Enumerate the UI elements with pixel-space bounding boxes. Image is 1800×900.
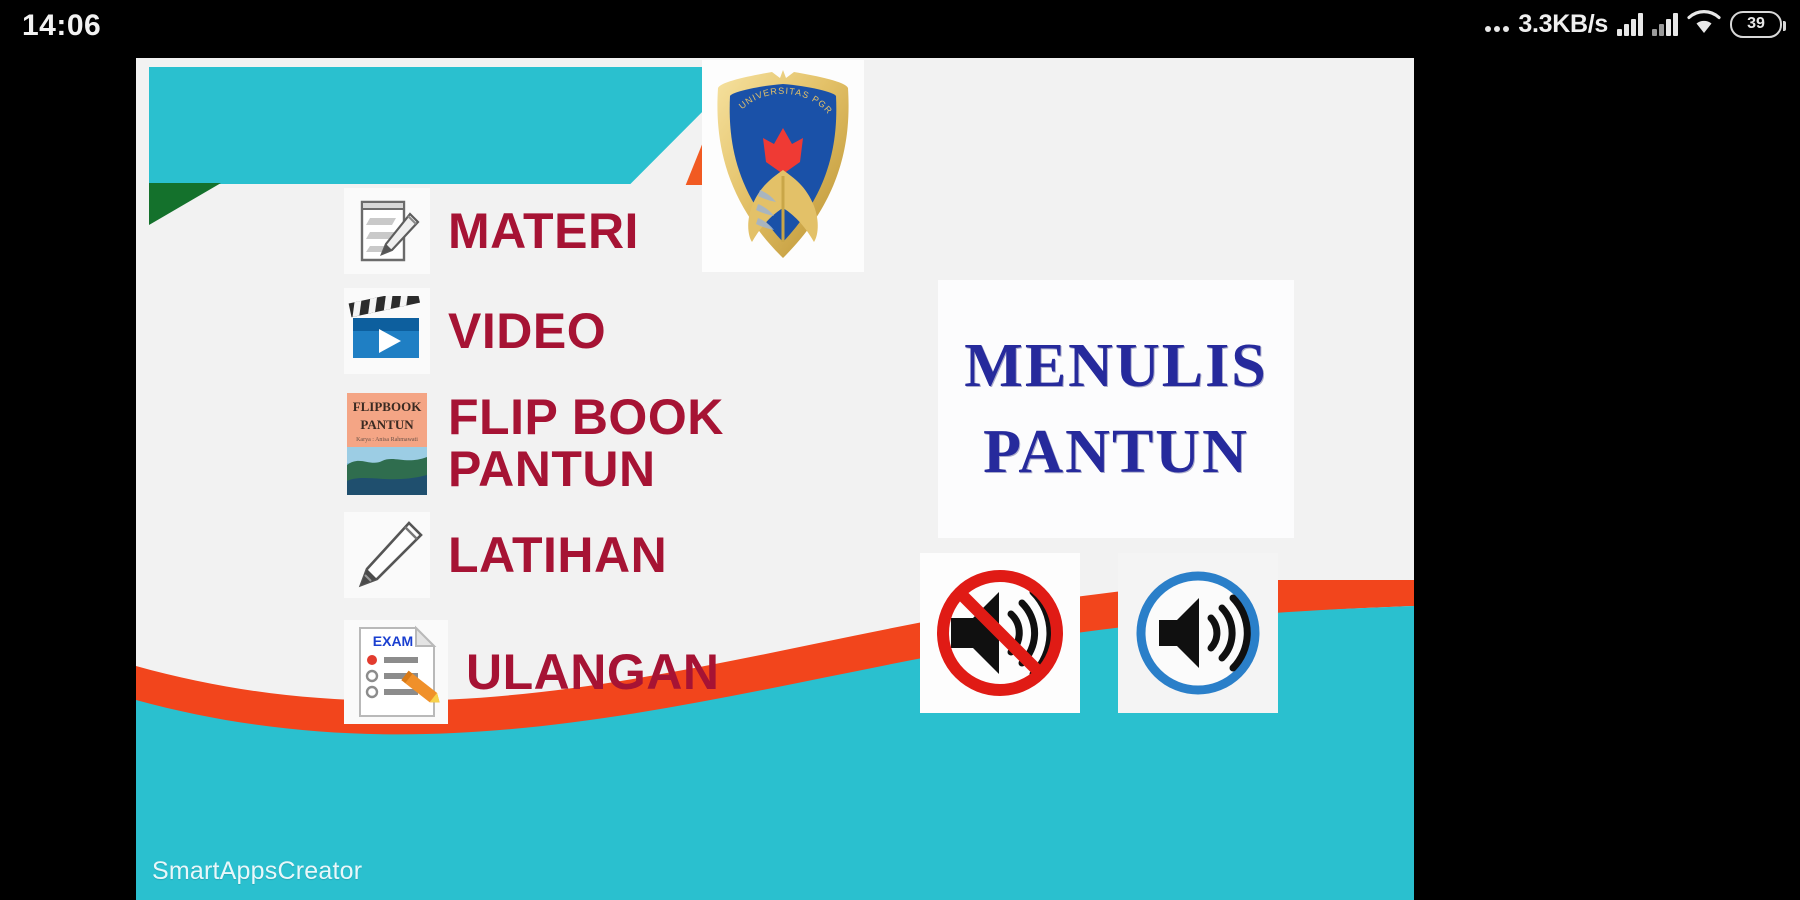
menu-item-materi-label: MATERI — [448, 205, 639, 257]
main-menu: MATERI — [344, 188, 944, 738]
battery-icon: 39 — [1730, 11, 1782, 38]
menu-item-video[interactable]: VIDEO — [344, 288, 944, 374]
svg-text:Karya : Anisa Rahmawati: Karya : Anisa Rahmawati — [356, 437, 418, 443]
sound-on-icon — [1123, 558, 1273, 708]
menu-item-materi[interactable]: MATERI — [344, 188, 944, 274]
flipbook-thumb-line1: FLIPBOOK — [353, 399, 423, 414]
document-pen-icon — [344, 188, 430, 274]
title-line-1: MENULIS — [964, 335, 1267, 397]
pencil-icon — [344, 512, 430, 598]
network-speed-label: 3.3KB/s — [1518, 10, 1608, 39]
app-stage: SmartAppsCreator UNIVERSITAS PGRI SEMARA… — [136, 58, 1414, 900]
menu-item-ulangan[interactable]: EXAM ULANGAN — [344, 620, 944, 724]
flipbook-thumbnail-icon: FLIPBOOK PANTUN Karya : Anisa Rahmawati — [344, 388, 430, 498]
status-clock: 14:06 — [22, 9, 101, 43]
exam-paper-label: EXAM — [373, 633, 413, 649]
signal-bars-icon-1 — [1617, 12, 1643, 36]
menu-item-flipbook[interactable]: FLIPBOOK PANTUN Karya : Anisa Rahmawati … — [344, 388, 944, 498]
signal-bars-icon-2 — [1652, 12, 1678, 36]
status-indicators: 3.3KB/s 39 — [1485, 4, 1782, 44]
status-bar: 14:06 3.3KB/s 39 — [0, 0, 1800, 48]
menu-item-video-label: VIDEO — [448, 305, 606, 357]
sound-on-button[interactable] — [1118, 553, 1278, 713]
sound-off-icon — [925, 558, 1075, 708]
dots-icon — [1485, 16, 1509, 32]
smartappscreator-watermark: SmartAppsCreator — [152, 857, 362, 886]
battery-level-label: 39 — [1747, 15, 1765, 33]
page-title: MENULIS PANTUN — [938, 280, 1294, 538]
clapperboard-play-icon — [344, 288, 430, 374]
flipbook-thumb-line2: PANTUN — [360, 417, 414, 432]
teal-banner-shape — [149, 67, 747, 184]
exam-paper-icon: EXAM — [344, 620, 448, 724]
green-fold-shape — [149, 183, 221, 225]
menu-item-latihan-label: LATIHAN — [448, 529, 667, 581]
title-line-2: PANTUN — [983, 421, 1249, 483]
sound-off-button[interactable] — [920, 553, 1080, 713]
menu-item-flipbook-label: FLIP BOOK PANTUN — [448, 391, 778, 495]
menu-item-latihan[interactable]: LATIHAN — [344, 512, 944, 598]
sound-controls — [920, 553, 1278, 713]
wifi-icon — [1687, 9, 1721, 40]
menu-item-ulangan-label: ULANGAN — [466, 646, 719, 698]
